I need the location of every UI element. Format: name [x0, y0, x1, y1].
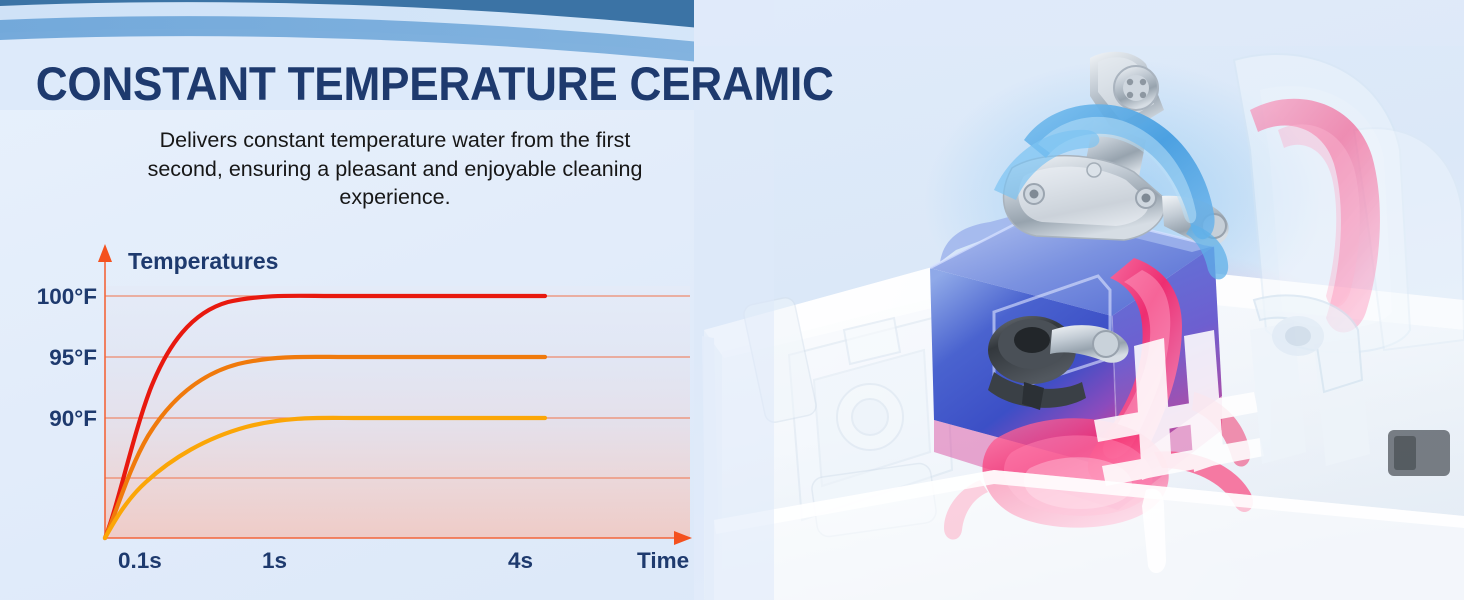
y-tick-label-100f: 100°F: [37, 284, 97, 309]
x-tick-label-1s: 1s: [262, 548, 287, 573]
subtitle-line-3: experience.: [339, 185, 450, 209]
chart-title: Temperatures: [128, 248, 278, 274]
page-subtitle: Delivers constant temperature water from…: [0, 126, 880, 212]
x-tick-label-4s: 4s: [508, 548, 533, 573]
subtitle-line-1: Delivers constant temperature water from…: [160, 128, 631, 152]
subtitle-line-2: second, ensuring a pleasant and enjoyabl…: [148, 157, 643, 181]
temperature-chart: 100°F 95°F 90°F Temperatures 0.1s 1s 4s …: [0, 238, 720, 598]
chart-svg: 100°F 95°F 90°F Temperatures 0.1s 1s 4s …: [0, 238, 720, 598]
page-title: CONSTANT TEMPERATURE CERAMIC: [0, 60, 827, 108]
text-block: CONSTANT TEMPERATURE CERAMIC Delivers co…: [0, 60, 880, 212]
y-axis-arrow-icon: [98, 244, 112, 262]
x-axis-label: Time: [637, 548, 689, 573]
y-tick-label-90f: 90°F: [49, 406, 97, 431]
banner-canvas: CONSTANT TEMPERATURE CERAMIC Delivers co…: [0, 0, 1464, 600]
x-tick-label-0_1s: 0.1s: [118, 548, 162, 573]
y-tick-label-95f: 95°F: [49, 345, 97, 370]
